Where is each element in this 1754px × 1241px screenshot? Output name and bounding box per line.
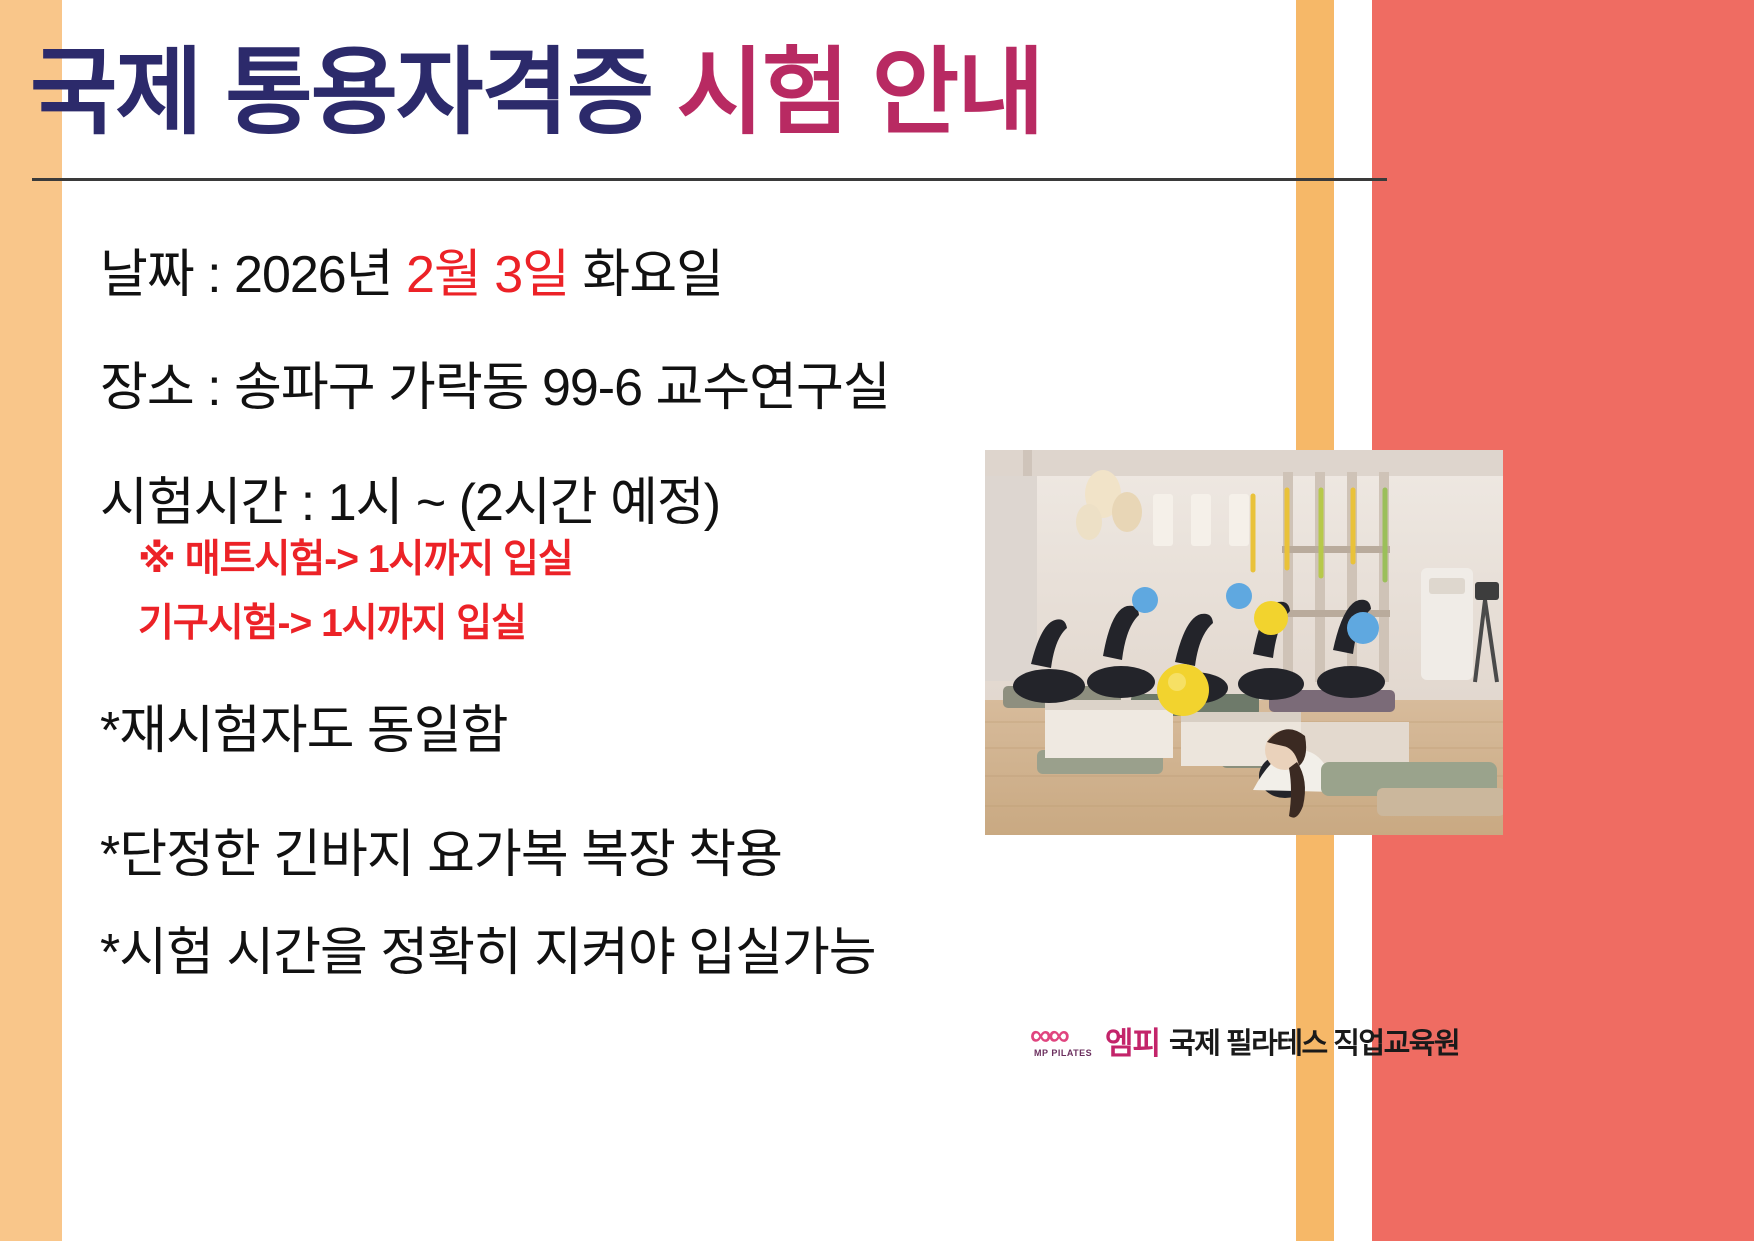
title-part-navy: 국제 통용자격증 (30, 40, 652, 146)
exam-date-weekday: 화요일 (582, 246, 723, 304)
mp-pilates-mark-text: MP PILATES (1034, 1048, 1092, 1058)
note-dress-code: *단정한 긴바지 요가복 복장 착용 (100, 812, 782, 887)
mp-infinity-icon: ∞∞ MP PILATES (1030, 1021, 1096, 1061)
brand-short-label: 엠피 (1105, 1018, 1160, 1063)
title-line: 국제 통용자격증 시험 안내 (30, 40, 1390, 146)
title-part-magenta: 시험 안내 (677, 40, 1043, 146)
exam-date-highlight: 2월 3일 (406, 246, 569, 304)
pilates-studio-photo (985, 450, 1503, 835)
brand-full-label: 국제 필라테스 직업교육원 (1169, 1020, 1459, 1062)
exam-time-line: 시험시간 : 1시 ~ (2시간 예정) (100, 460, 720, 535)
infinity-glyph: ∞∞ (1030, 1021, 1067, 1051)
exam-date-label: 날짜 : 2026년 (100, 246, 393, 304)
exam-date-line: 날짜 : 2026년 2월 3일 화요일 (100, 232, 723, 307)
note-punctuality: *시험 시간을 정확히 지켜야 입실가능 (100, 910, 876, 985)
page-title: 국제 통용자격증 시험 안내 (30, 40, 1390, 146)
note-equipment-exam: 기구시험-> 1시까지 입실 (138, 592, 526, 648)
note-mat-exam: ※ 매트시험-> 1시까지 입실 (138, 528, 573, 584)
exam-place-line: 장소 : 송파구 가락동 99-6 교수연구실 (100, 345, 890, 420)
title-divider (32, 178, 1387, 181)
left-orange-stripe (0, 0, 62, 1241)
note-retake-same: *재시험자도 동일함 (100, 688, 507, 763)
footer-brand-logo: ∞∞ MP PILATES 엠피 국제 필라테스 직업교육원 (1030, 1018, 1459, 1063)
